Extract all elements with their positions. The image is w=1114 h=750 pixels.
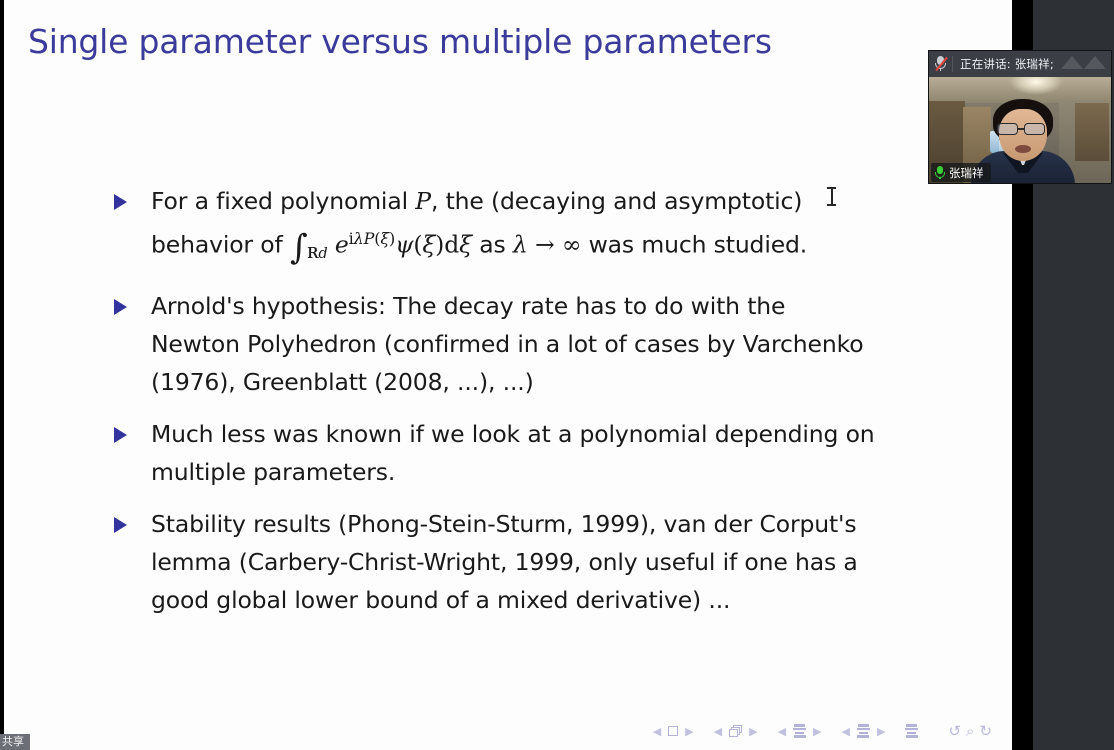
back-icon[interactable]: ↺ (948, 722, 961, 740)
page-title: Single parameter versus multiple paramet… (28, 22, 772, 61)
person-mouth (1015, 145, 1031, 153)
triangle-right-icon (114, 194, 127, 210)
triangle-right-icon (114, 427, 127, 443)
prev-section-icon[interactable]: ◀ (842, 726, 850, 737)
bullet-line: For a fixed polynomial P, the (decaying … (151, 182, 972, 220)
mic-muted-icon[interactable] (934, 56, 947, 72)
next-section-icon[interactable]: ▶ (877, 726, 885, 737)
frame-stack-icon[interactable] (729, 725, 742, 737)
math-integral-sign: ∫ (290, 227, 308, 267)
chevron-up-icon[interactable] (1084, 56, 1106, 69)
header-divider (952, 56, 953, 72)
bullet-text-fragment: was much studied. (581, 230, 807, 258)
bullet-line: lemma (Carbery-Christ-Wright, 1999, only… (151, 543, 972, 581)
bullet-text-fragment: behavior of (151, 230, 290, 258)
bullet-text-fragment: , the (decaying and asymptotic) (431, 187, 802, 215)
participant-name-badge: 张瑞祥 (931, 163, 991, 182)
math-italic-P: P (415, 187, 431, 215)
bullet-line: Much less was known if we look at a poly… (151, 415, 972, 453)
section-lines-icon[interactable] (857, 724, 870, 737)
document-nav-group[interactable] (905, 724, 918, 737)
bullet-item-stability-results: Stability results (Phong-Stein-Sturm, 19… (112, 505, 972, 619)
zoom-screen-share-view: Single parameter versus multiple paramet… (0, 0, 1114, 750)
prev-slide-icon[interactable]: ◀ (653, 726, 661, 737)
bullet-line: good global lower bound of a mixed deriv… (151, 581, 972, 619)
math-blackboard-R: R (308, 245, 319, 262)
participant-name: 张瑞祥 (949, 165, 984, 181)
beamer-navigation-bar[interactable]: ◀ ▶ ◀ ▶ ◀ ▶ ◀ ▶ ↺ (4, 720, 1012, 742)
forward-icon[interactable]: ↻ (979, 722, 992, 740)
sharing-indicator: 共享 (0, 734, 30, 750)
mic-active-icon (935, 166, 945, 179)
chevron-up-icon[interactable] (1061, 56, 1083, 69)
bullet-item-multiple-parameters: Much less was known if we look at a poly… (112, 415, 972, 491)
video-panel-header: 正在讲话: 张瑞祥; (929, 51, 1111, 77)
math-xi: ξ (422, 230, 435, 258)
bullet-item-arnold-hypothesis: Arnold's hypothesis: The decay rate has … (112, 287, 972, 401)
bullet-line: Arnold's hypothesis: The decay rate has … (151, 287, 972, 325)
next-slide-icon[interactable]: ▶ (685, 726, 693, 737)
triangle-right-icon (114, 517, 127, 533)
math-lambda: λ (513, 230, 528, 258)
subsection-lines-icon[interactable] (793, 724, 806, 737)
prev-frame-icon[interactable]: ◀ (714, 726, 722, 737)
eyeglasses (997, 123, 1049, 135)
video-feed[interactable]: 张瑞祥 (929, 77, 1111, 184)
bullet-line: multiple parameters. (151, 453, 972, 491)
beamer-slide: Single parameter versus multiple paramet… (4, 0, 1012, 750)
next-subsection-icon[interactable]: ▶ (813, 726, 821, 737)
bullet-line: behavior of ∫Rd eiλP(ξ)ψ(ξ)dξ as λ → ∞ w… (151, 220, 972, 273)
active-speaker-label: 正在讲话: 张瑞祥; (960, 56, 1054, 72)
panel-collapse-controls[interactable] (1061, 56, 1106, 69)
math-sup-P: P (364, 229, 375, 248)
bullet-list: For a fixed polynomial P, the (decaying … (112, 182, 972, 633)
math-sup-lambda: λ (354, 229, 364, 248)
next-frame-icon[interactable]: ▶ (749, 726, 757, 737)
math-psi: ψ (395, 230, 413, 258)
bullet-line: (1976), Greenblatt (2008, ...), ...) (151, 363, 972, 401)
math-exp-e: e (335, 230, 349, 258)
search-icon[interactable]: ⌕ (966, 722, 974, 740)
slide-nav-group[interactable]: ◀ ▶ (653, 726, 694, 737)
frame-square-icon[interactable] (668, 726, 678, 736)
math-infinity: ∞ (562, 230, 581, 258)
triangle-right-icon (114, 299, 127, 315)
bullet-text-fragment: as (472, 230, 513, 258)
math-xi: ξ (459, 230, 472, 258)
zoom-video-thumbnail[interactable]: 正在讲话: 张瑞祥; (928, 50, 1112, 184)
person-face (999, 109, 1047, 161)
math-sub-d: d (318, 245, 327, 262)
math-paren-close: ) (435, 230, 444, 258)
math-sup-xi: ξ (380, 229, 389, 248)
bullet-text-fragment: For a fixed polynomial (151, 187, 415, 215)
bullet-item-fixed-polynomial: For a fixed polynomial P, the (decaying … (112, 182, 972, 273)
math-right-arrow: → (535, 230, 555, 258)
door-right (1075, 103, 1109, 161)
nav-tools-group[interactable]: ↺ ⌕ ↻ (948, 722, 992, 740)
section-nav-group[interactable]: ◀ ▶ (842, 724, 886, 737)
prev-subsection-icon[interactable]: ◀ (778, 726, 786, 737)
math-differential-d: d (444, 230, 459, 258)
document-lines-icon[interactable] (905, 724, 918, 737)
bullet-line: Stability results (Phong-Stein-Sturm, 19… (151, 505, 972, 543)
bullet-line: Newton Polyhedron (confirmed in a lot of… (151, 325, 972, 363)
subsection-nav-group[interactable]: ◀ ▶ (778, 724, 822, 737)
frame-nav-group[interactable]: ◀ ▶ (714, 725, 758, 737)
